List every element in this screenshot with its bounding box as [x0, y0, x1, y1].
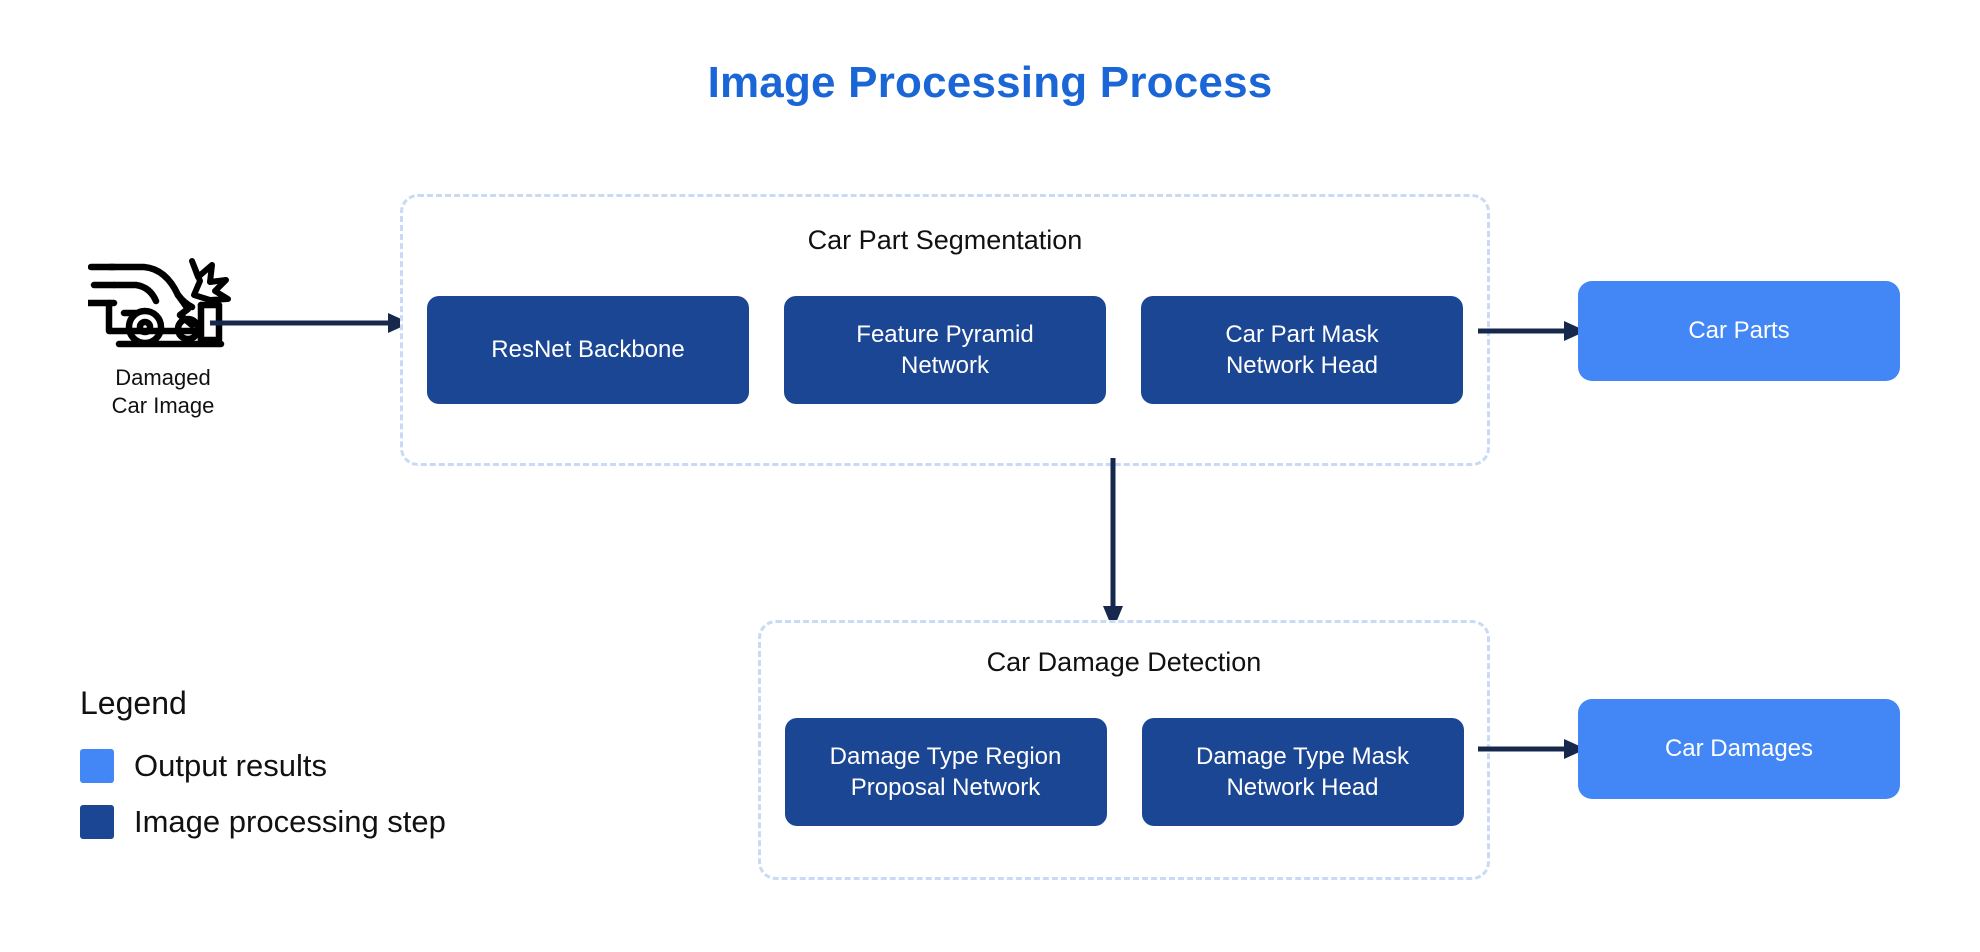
input-node-caption: Damaged Car Image [78, 364, 248, 420]
legend-title: Legend [80, 685, 600, 722]
group-steps-detection: Damage Type Region Proposal Network Dama… [761, 718, 1487, 826]
group-steps-segmentation: ResNet Backbone Feature Pyramid Network … [403, 296, 1487, 404]
arrow-segmentation-to-detection [1100, 458, 1126, 630]
step-box-damage-type-mask-network-head[interactable]: Damage Type Mask Network Head [1142, 718, 1464, 826]
arrow-detection-to-car-damages [1478, 736, 1586, 762]
arrow-segmentation-to-car-parts [1478, 318, 1586, 344]
output-box-car-damages[interactable]: Car Damages [1578, 699, 1900, 799]
arrow-input-to-segmentation [210, 310, 410, 336]
input-node-damaged-car: Damaged Car Image [78, 255, 248, 420]
legend-swatch-image-processing-step [80, 805, 114, 839]
group-title-detection: Car Damage Detection [761, 647, 1487, 678]
group-car-part-segmentation: Car Part Segmentation ResNet Backbone Fe… [400, 194, 1490, 466]
legend-label-image-processing-step: Image processing step [134, 804, 446, 840]
group-car-damage-detection: Car Damage Detection Damage Type Region … [758, 620, 1490, 880]
group-title-segmentation: Car Part Segmentation [403, 225, 1487, 256]
legend-item-image-processing-step: Image processing step [80, 804, 600, 840]
output-box-car-parts[interactable]: Car Parts [1578, 281, 1900, 381]
step-box-feature-pyramid-network[interactable]: Feature Pyramid Network [784, 296, 1106, 404]
step-box-damage-type-region-proposal-network[interactable]: Damage Type Region Proposal Network [785, 718, 1107, 826]
diagram-canvas: Image Processing Process [0, 0, 1980, 952]
page-title: Image Processing Process [0, 58, 1980, 108]
legend: Legend Output results Image processing s… [80, 685, 600, 860]
step-box-car-part-mask-network-head[interactable]: Car Part Mask Network Head [1141, 296, 1463, 404]
legend-label-output-results: Output results [134, 748, 327, 784]
legend-swatch-output-results [80, 749, 114, 783]
legend-item-output-results: Output results [80, 748, 600, 784]
step-box-resnet-backbone[interactable]: ResNet Backbone [427, 296, 749, 404]
